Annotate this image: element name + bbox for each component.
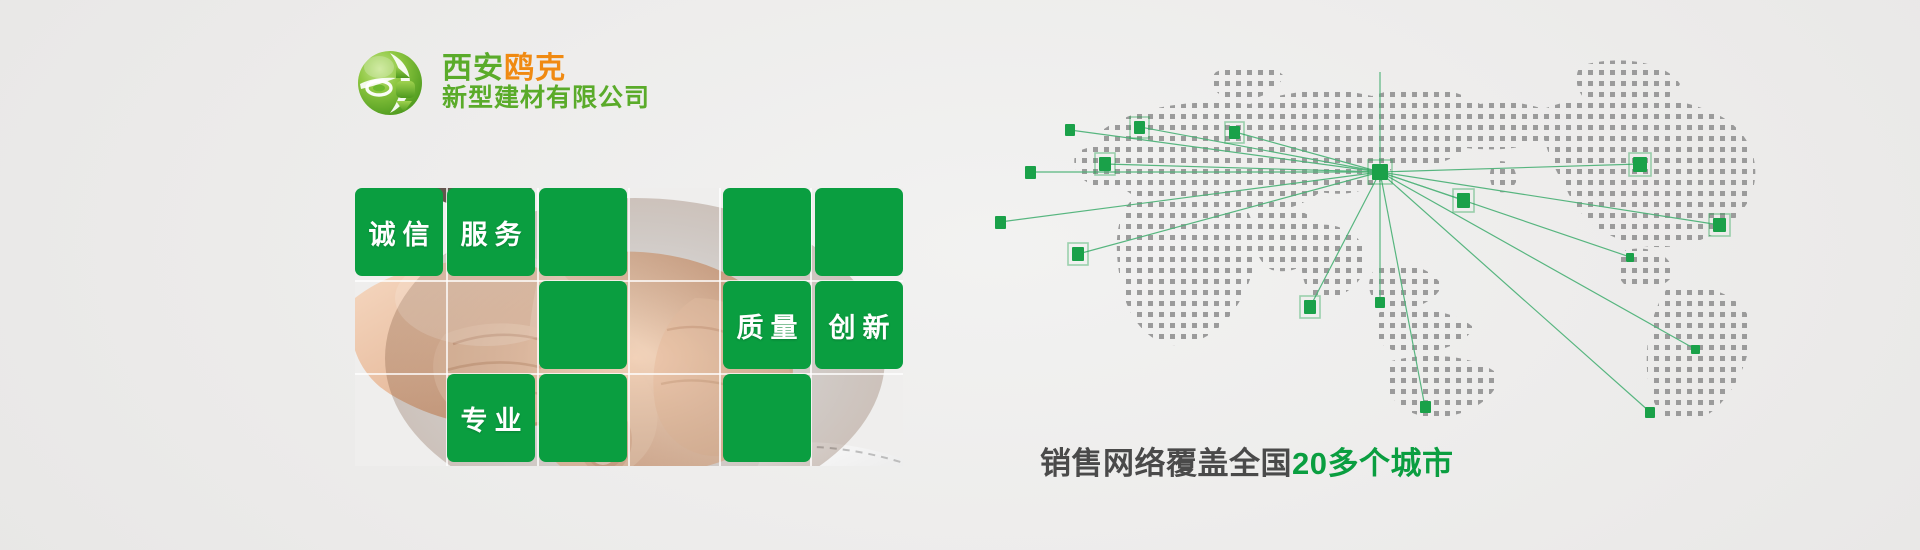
logo-text-block: 西安鸥克 新型建材有限公司	[442, 54, 650, 111]
map-dot-field	[980, 12, 1820, 432]
logo-city-text: 西安	[442, 52, 504, 85]
grid-line-h	[355, 373, 903, 375]
mosaic-tile	[723, 188, 811, 276]
logo-company-name: 西安鸥克	[442, 54, 650, 84]
logo-subtitle: 新型建材有限公司	[442, 86, 650, 111]
tile-label-fuwu: 服务	[447, 188, 535, 276]
green-globe-leaf-logo-icon	[352, 44, 428, 120]
dotted-world-map	[880, 12, 1920, 432]
mosaic-tile	[539, 374, 627, 462]
promo-banner: 西安鸥克 新型建材有限公司	[0, 0, 1920, 550]
logo-brand-text: 鸥克	[504, 52, 566, 85]
mosaic-tile	[539, 281, 627, 369]
grid-line-v	[719, 188, 721, 466]
grid-line-v	[628, 188, 630, 466]
tagline-main-text: 销售网络覆盖全国	[1040, 446, 1292, 481]
company-logo[interactable]: 西安鸥克 新型建材有限公司	[352, 44, 650, 120]
mosaic-tile	[539, 188, 627, 276]
tile-label-chengxin: 诚信	[355, 188, 443, 276]
tagline: 销售网络覆盖全国20多个城市	[1040, 438, 1453, 483]
tagline-highlight-text: 20多个城市	[1292, 446, 1453, 481]
tile-label-zhuanye: 专业	[447, 374, 535, 462]
mosaic-photo-grid: 诚信 服务 质量 创新 专业	[355, 188, 903, 466]
mosaic-tile	[723, 374, 811, 462]
tile-label-zhiliang: 质量	[723, 281, 811, 369]
